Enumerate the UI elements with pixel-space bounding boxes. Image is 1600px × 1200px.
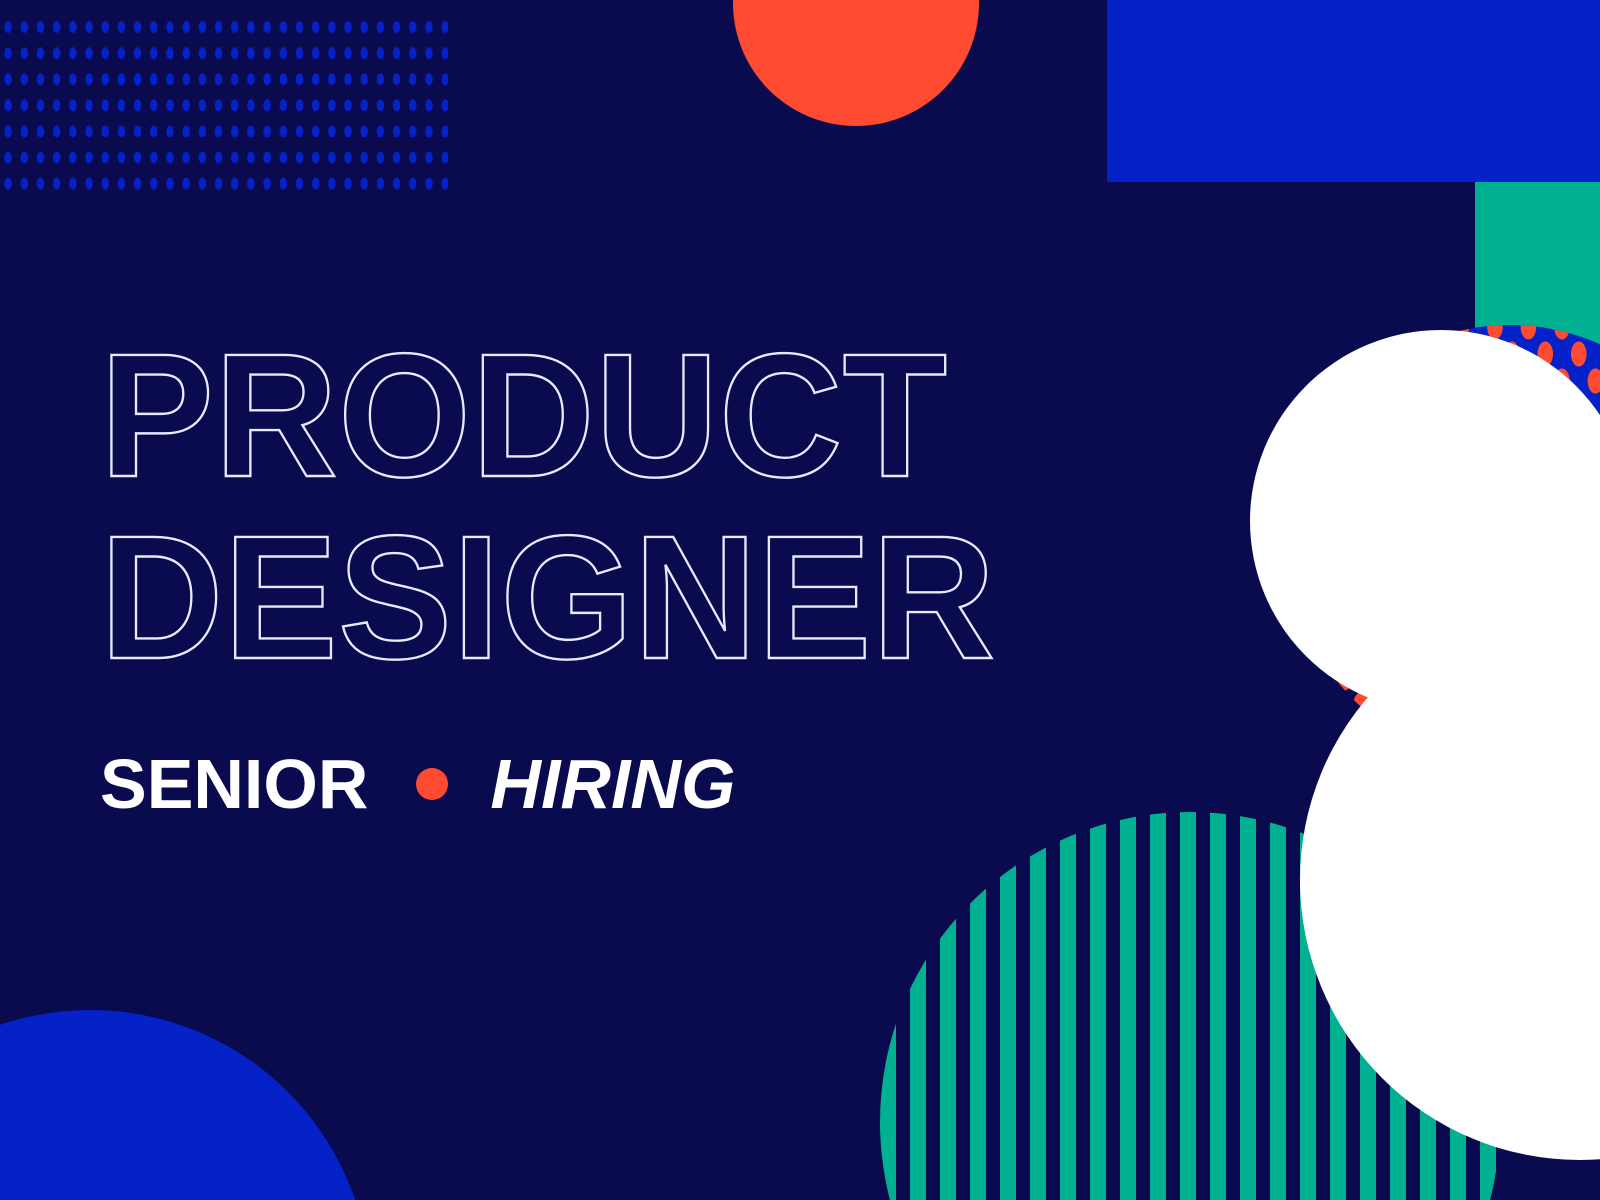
hiring-status-label: HIRING (490, 749, 735, 819)
subtitle-row: SENIOR HIRING (100, 747, 1220, 821)
poster-text-block: PRODUCT DESIGNER SENIOR HIRING (100, 330, 1220, 821)
red-half-circle-shape (733, 0, 979, 126)
bullet-dot-icon (416, 768, 448, 800)
blue-rectangle-shape (1107, 0, 1600, 182)
blue-circle-bottom-left-shape (0, 1010, 370, 1200)
dot-grid-pattern-icon (0, 14, 448, 194)
headline-line-1: PRODUCT (100, 330, 1186, 502)
seniority-label: SENIOR (100, 749, 368, 819)
job-poster-canvas: PRODUCT DESIGNER SENIOR HIRING (0, 0, 1600, 1200)
headline-line-2: DESIGNER (100, 512, 1186, 684)
